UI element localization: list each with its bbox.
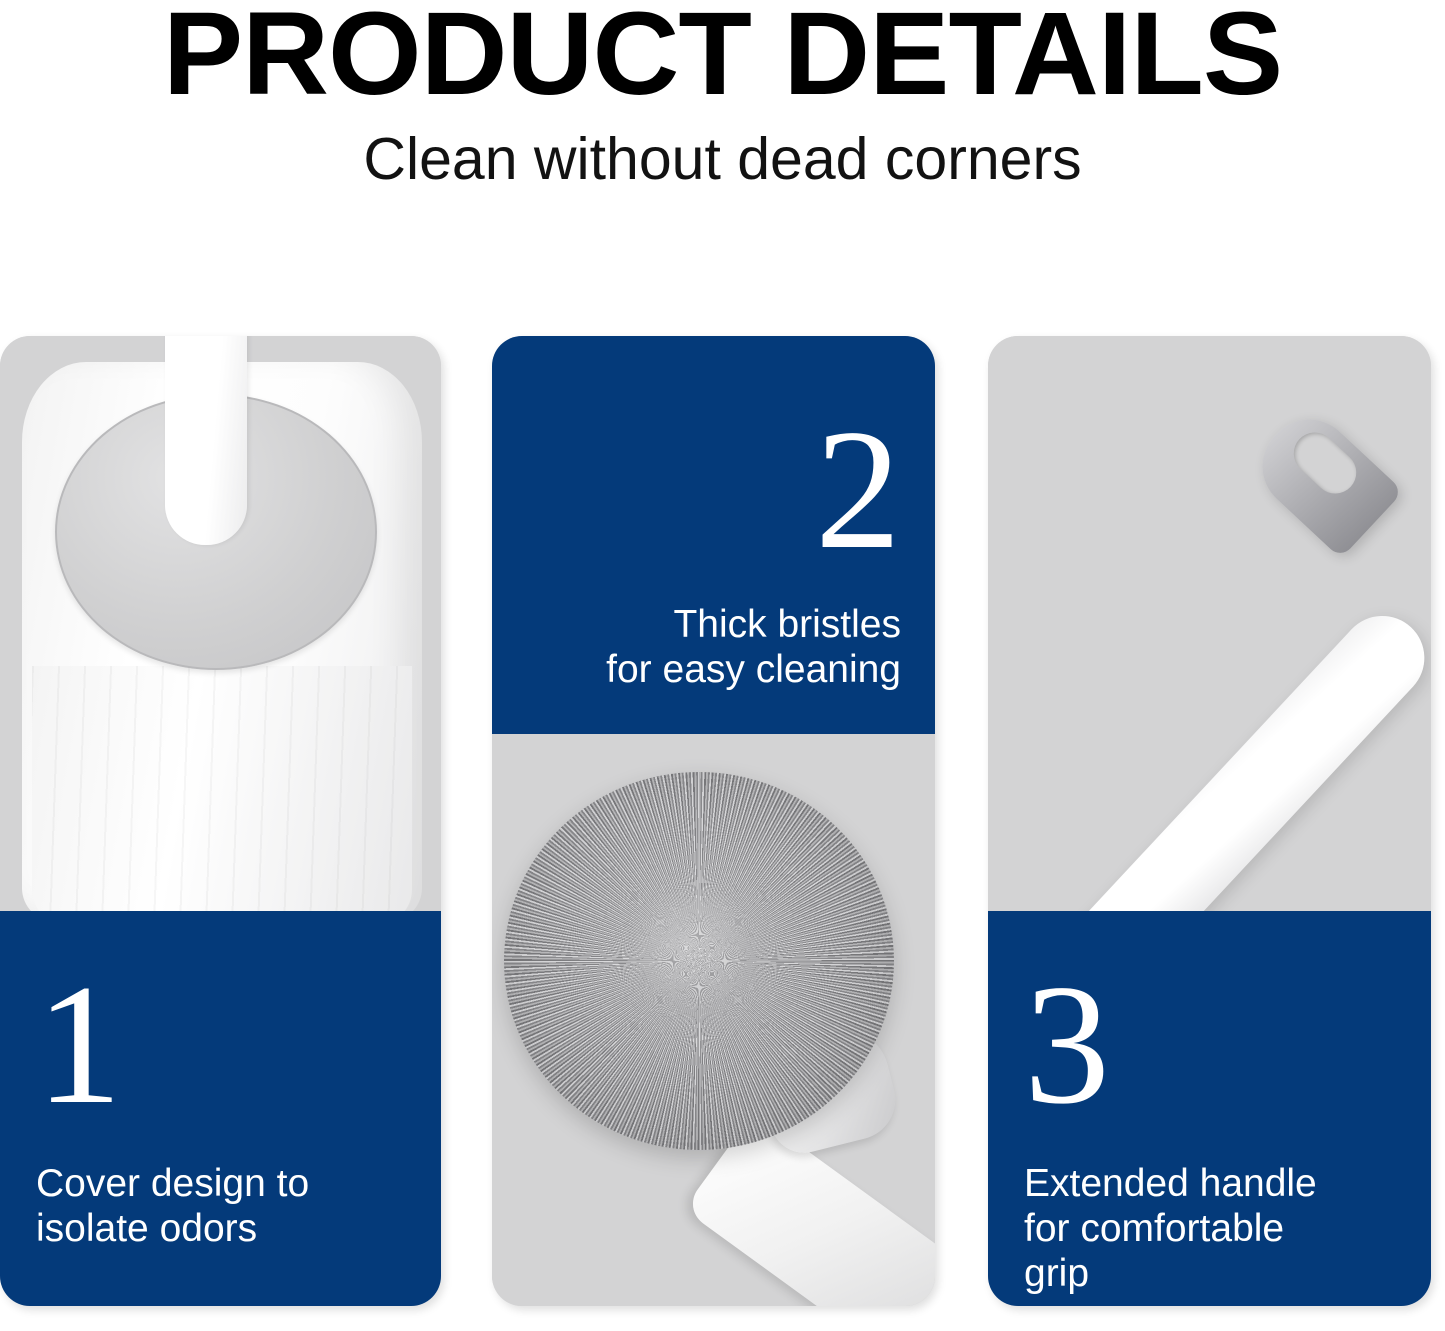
product-photo-extended-handle	[988, 336, 1431, 914]
step-caption-3: Extended handle for comfortable grip	[1024, 1131, 1401, 1296]
page-title: PRODUCT DETAILS	[0, 2, 1445, 106]
holder-illustration	[0, 336, 441, 914]
page-header: PRODUCT DETAILS Clean without dead corne…	[0, 0, 1445, 194]
feature-caption-block-2: 2 Thick bristles for easy cleaning	[492, 336, 935, 734]
holder-ribs-shape	[32, 666, 412, 914]
handle-rod-shape	[998, 599, 1431, 914]
brush-bristle-ball-shape	[504, 772, 894, 1150]
feature-card-2[interactable]: 2 Thick bristles for easy cleaning	[492, 336, 935, 1306]
step-number-2: 2	[526, 336, 901, 576]
feature-caption-block-1: 1 Cover design to isolate odors	[0, 911, 441, 1306]
step-number-3: 3	[1024, 911, 1401, 1131]
step-caption-1: Cover design to isolate odors	[36, 1131, 411, 1251]
step-caption-2: Thick bristles for easy cleaning	[526, 576, 901, 692]
brush-head-illustration	[492, 734, 935, 1306]
step-number-1: 1	[36, 911, 411, 1131]
handle-illustration	[988, 336, 1431, 914]
feature-card-3[interactable]: 3 Extended handle for comfortable grip	[988, 336, 1431, 1306]
product-photo-cover-holder	[0, 336, 441, 914]
feature-card-1[interactable]: 1 Cover design to isolate odors	[0, 336, 441, 1306]
feature-cards-row: 1 Cover design to isolate odors 2 Thick …	[0, 336, 1445, 1308]
feature-caption-block-3: 3 Extended handle for comfortable grip	[988, 911, 1431, 1306]
product-photo-bristle-head	[492, 734, 935, 1306]
holder-brush-stem-shape	[165, 336, 247, 545]
